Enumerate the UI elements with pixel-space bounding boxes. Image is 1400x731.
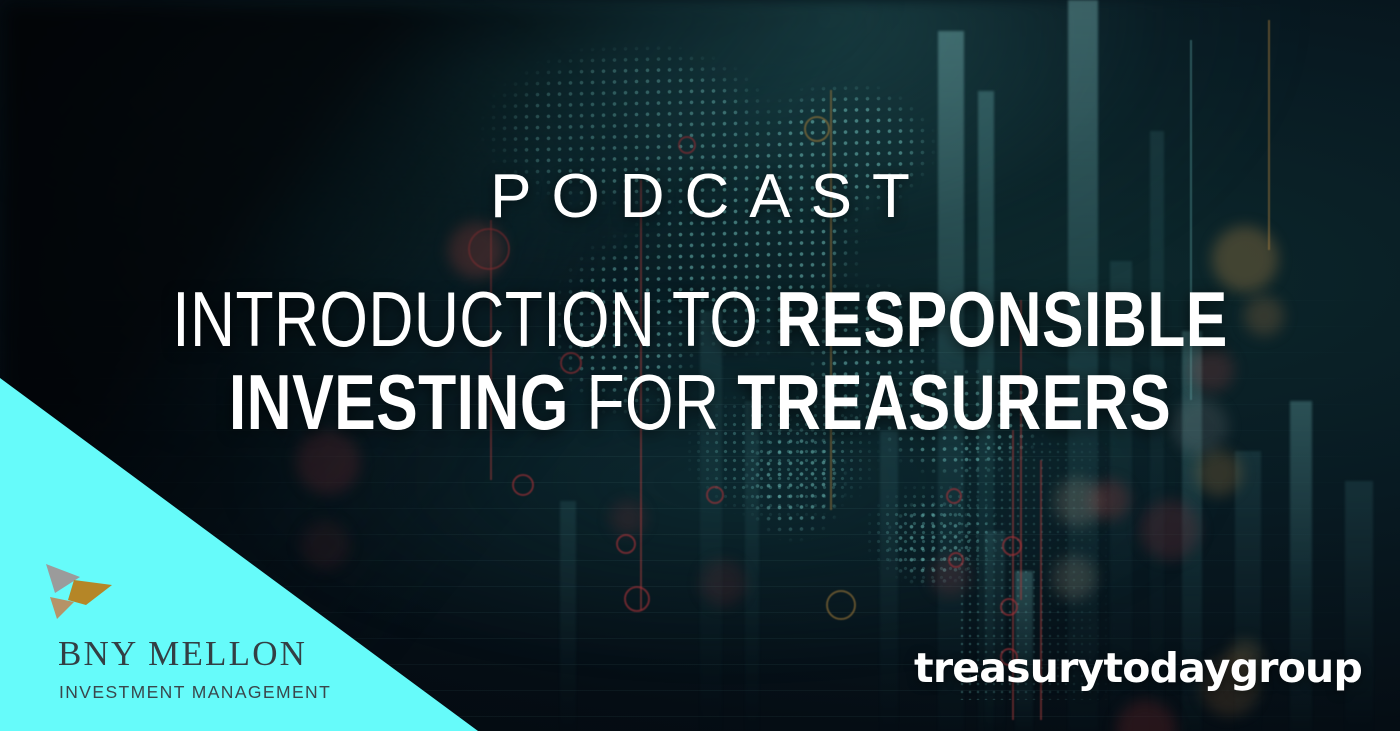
page-title-line-1: INTRODUCTION TO RESPONSIBLE bbox=[140, 278, 1260, 361]
bny-mellon-tagline: INVESTMENT MANAGEMENT bbox=[59, 684, 360, 702]
title-segment-bold-3: TREASURERS bbox=[737, 358, 1171, 446]
kicker-podcast-label: PODCAST bbox=[0, 166, 1400, 228]
page-title-line-2: INVESTING FOR TREASURERS bbox=[140, 361, 1260, 444]
bny-arrow-icon bbox=[44, 560, 116, 622]
title-segment-bold-1: RESPONSIBLE bbox=[776, 275, 1228, 363]
bny-mellon-logo: BNY MELLON INVESTMENT MANAGEMENT bbox=[40, 560, 360, 702]
page-title: INTRODUCTION TO RESPONSIBLE INVESTING FO… bbox=[140, 278, 1260, 443]
title-segment-bold-2: INVESTING bbox=[229, 358, 569, 446]
title-segment-light-1: INTRODUCTION TO bbox=[172, 275, 776, 363]
title-segment-light-2: FOR bbox=[569, 358, 737, 446]
podcast-title-card: PODCAST INTRODUCTION TO RESPONSIBLE INVE… bbox=[0, 0, 1400, 731]
treasurytodaygroup-wordmark: treasurytodaygroup bbox=[914, 648, 1362, 689]
bny-mellon-wordmark: BNY MELLON bbox=[58, 636, 360, 671]
